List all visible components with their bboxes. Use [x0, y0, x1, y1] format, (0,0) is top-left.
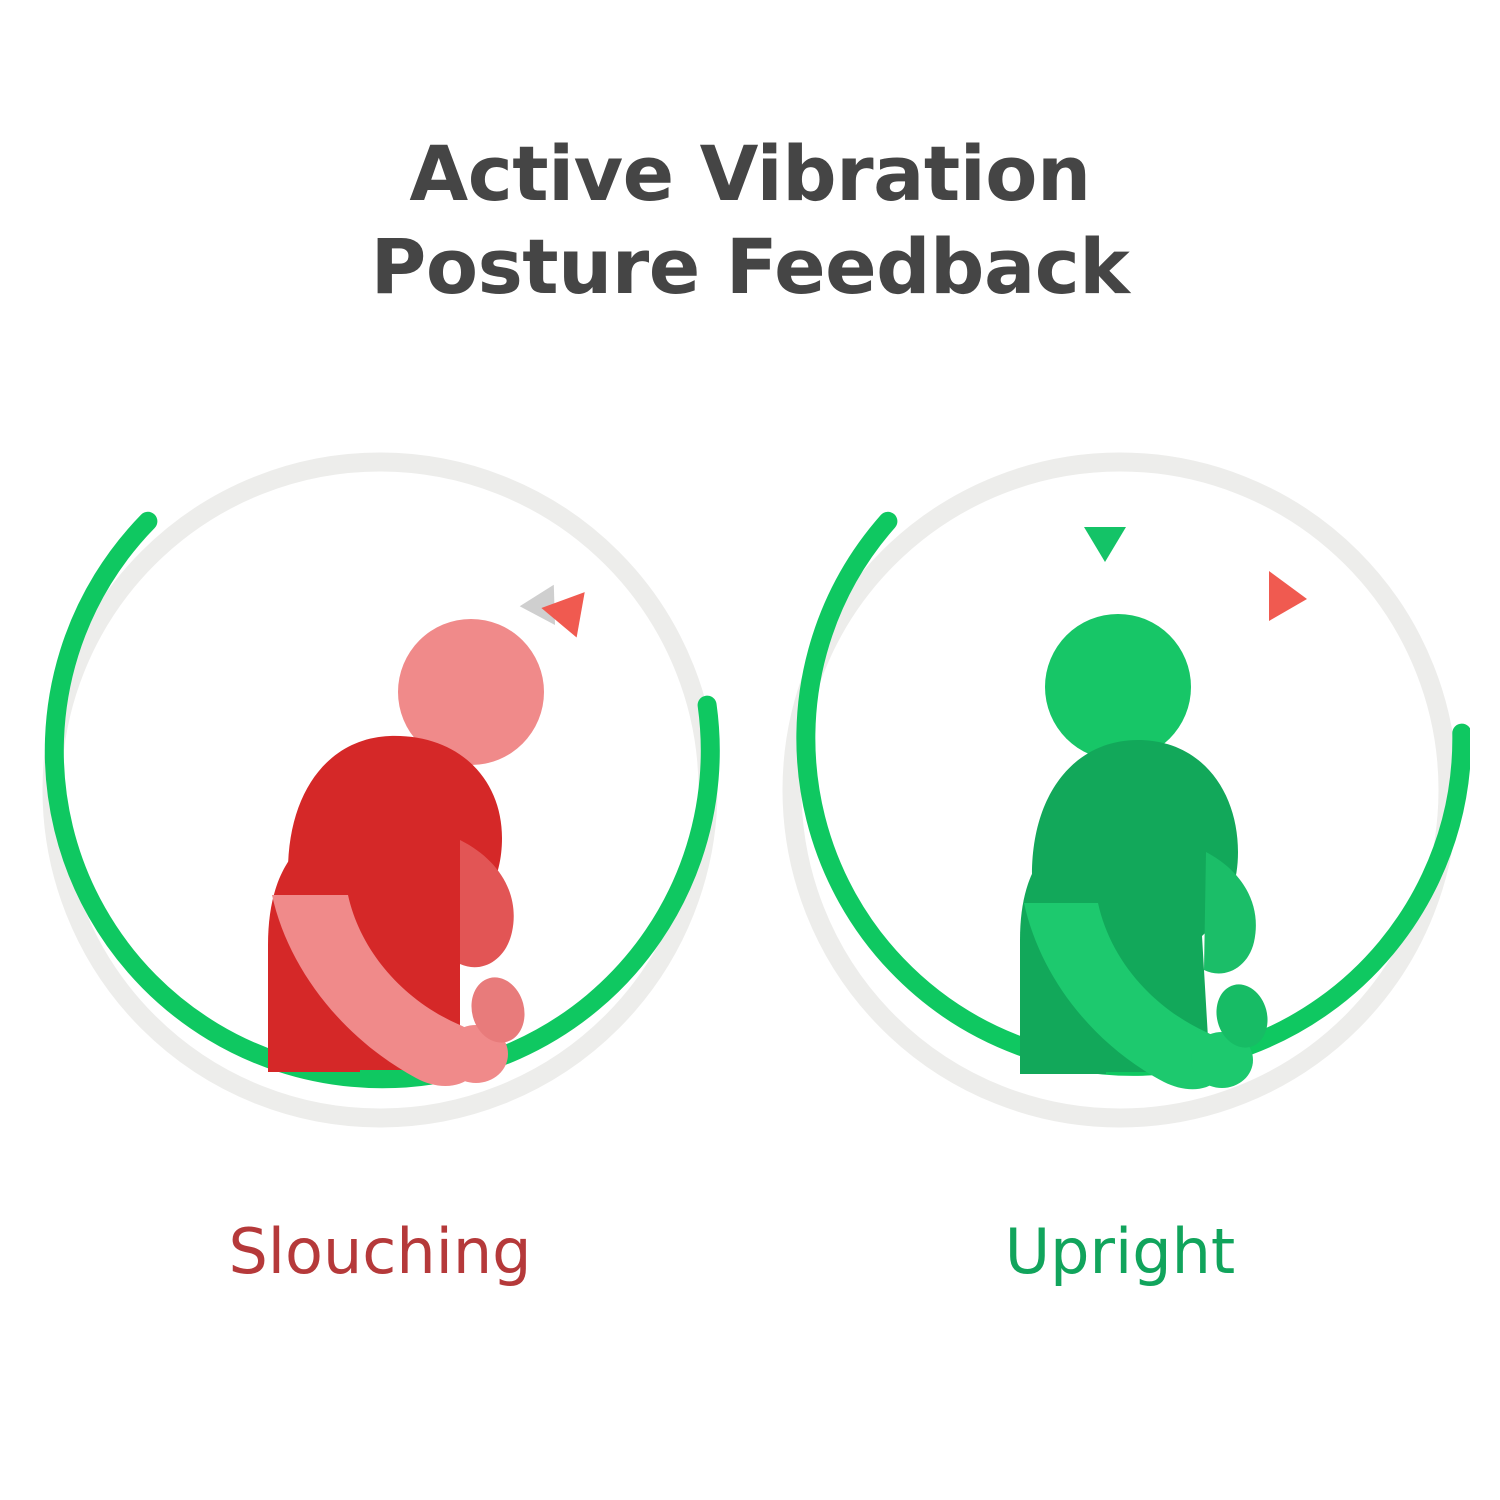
vibration-marker-red-icon	[1269, 571, 1307, 621]
vibration-marker-red-icon	[541, 577, 602, 637]
page-title: Active Vibration Posture Feedback	[0, 128, 1500, 313]
figure-upright	[770, 440, 1470, 1140]
gauge-upright	[770, 440, 1470, 1140]
vibration-markers-slouching	[520, 575, 603, 637]
comparison-panels: Slouching	[0, 440, 1500, 1390]
slouch-belly	[460, 840, 514, 967]
panel-slouching: Slouching	[30, 440, 730, 1390]
upright-belly	[1204, 852, 1256, 974]
title-line-1: Active Vibration	[0, 128, 1500, 221]
panel-upright: Upright	[770, 440, 1470, 1390]
label-slouching: Slouching	[30, 1215, 730, 1288]
label-upright: Upright	[770, 1215, 1470, 1288]
infographic-root: Active Vibration Posture Feedback	[0, 0, 1500, 1500]
title-line-2: Posture Feedback	[0, 221, 1500, 314]
gauge-slouching	[30, 440, 730, 1140]
figure-slouching	[30, 440, 730, 1140]
posture-ok-marker-green-icon	[1084, 527, 1126, 562]
upright-head	[1045, 614, 1191, 760]
